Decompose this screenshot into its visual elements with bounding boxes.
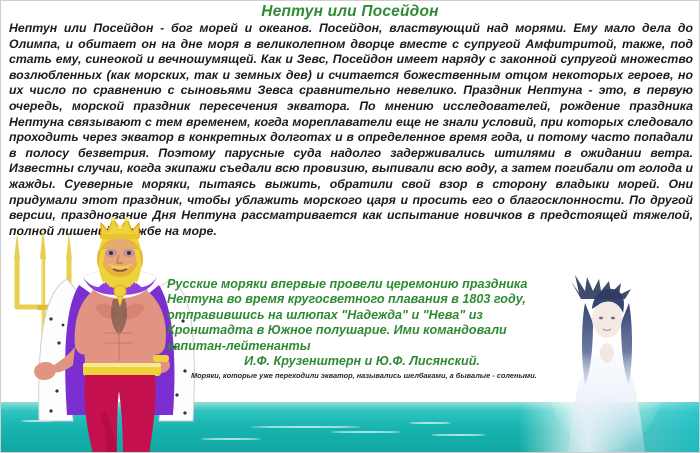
poster-canvas: Нептун или Посейдон Нептун или Посейдон …: [0, 0, 700, 453]
water-highlight: [409, 422, 451, 424]
water-highlight: [201, 438, 261, 440]
green-highlight-block: Русские моряки впервые провели церемонию…: [167, 277, 557, 369]
green-last-line: И.Ф. Крузенштерн и Ю.Ф. Лисянский.: [167, 354, 557, 369]
water-highlight: [431, 434, 486, 436]
sea-nymph-figure: [541, 273, 671, 453]
footnote-text: Моряки, которые уже переходили экватор, …: [191, 371, 551, 381]
sea-nymph-icon: [541, 273, 671, 453]
crown-icon: [100, 217, 140, 239]
green-main-text: Русские моряки впервые провели церемонию…: [167, 277, 527, 353]
water-highlight: [331, 431, 401, 433]
body-paragraph: Нептун или Посейдон - бог морей и океано…: [9, 21, 693, 239]
page-title: Нептун или Посейдон: [1, 3, 699, 21]
water-highlight: [251, 426, 361, 428]
